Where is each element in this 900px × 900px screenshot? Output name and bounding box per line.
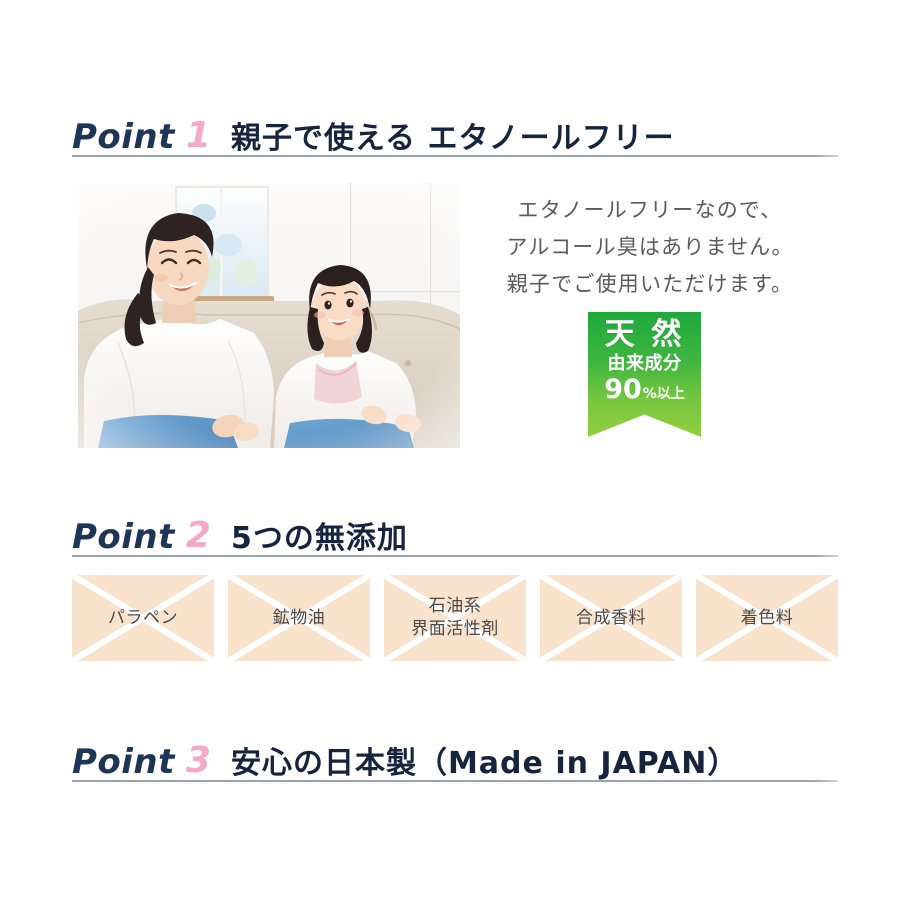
point-2-divider — [72, 555, 838, 557]
mother-and-daughter-photo — [78, 183, 460, 448]
point-2-label: Point — [72, 520, 175, 554]
point-1-description: エタノールフリーなので、 アルコール臭はありません。 親子でご使用いただけます。 — [490, 192, 810, 303]
no-additive-label: パラペン — [108, 607, 178, 630]
point-1-divider — [72, 155, 838, 157]
no-additive-box: 石油系 界面活性剤 — [384, 575, 526, 661]
description-line-2: アルコール臭はありません。 — [490, 229, 810, 266]
badge-percent-value: 90 — [604, 376, 642, 403]
point-3-title: 安心の日本製（Made in JAPAN） — [231, 749, 738, 779]
badge-percentage: 90 %以上 — [604, 376, 685, 403]
point-3-heading: Point 3 安心の日本製（Made in JAPAN） — [72, 723, 838, 779]
point-1-label: Point — [72, 120, 175, 154]
no-additive-label: 着色料 — [741, 607, 794, 630]
no-additive-label: 合成香料 — [576, 607, 646, 630]
no-additive-box: 合成香料 — [540, 575, 682, 661]
no-additive-box: 鉱物油 — [228, 575, 370, 661]
badge-main-text: 天 然 — [605, 319, 684, 351]
point-1-heading: Point 1 親子で使える エタノールフリー — [72, 98, 838, 154]
natural-ingredients-badge: 天 然 由来成分 90 %以上 — [588, 312, 701, 437]
badge-percent-unit: %以上 — [643, 387, 685, 401]
point-3-number: 3 — [186, 743, 211, 779]
product-points-page: Point 1 親子で使える エタノールフリー — [0, 0, 900, 900]
description-line-3: 親子でご使用いただけます。 — [490, 266, 810, 303]
no-additives-box-row: パラペン 鉱物油 石油系 界面活性剤 合成香料 — [72, 575, 838, 661]
point-2-number: 2 — [186, 518, 211, 554]
no-additive-label: 鉱物油 — [273, 607, 326, 630]
no-additive-box: 着色料 — [696, 575, 838, 661]
no-additive-label: 石油系 界面活性剤 — [411, 595, 499, 641]
no-additive-box: パラペン — [72, 575, 214, 661]
point-3-label: Point — [72, 745, 175, 779]
badge-sub-text: 由来成分 — [608, 353, 682, 376]
point-1-number: 1 — [186, 118, 211, 154]
point-2-heading: Point 2 5つの無添加 — [72, 498, 838, 554]
photo-illustration — [78, 183, 460, 448]
description-line-1: エタノールフリーなので、 — [490, 192, 810, 229]
point-2-title: 5つの無添加 — [231, 524, 408, 554]
point-3-divider — [72, 780, 838, 782]
point-1-title: 親子で使える エタノールフリー — [231, 124, 675, 154]
